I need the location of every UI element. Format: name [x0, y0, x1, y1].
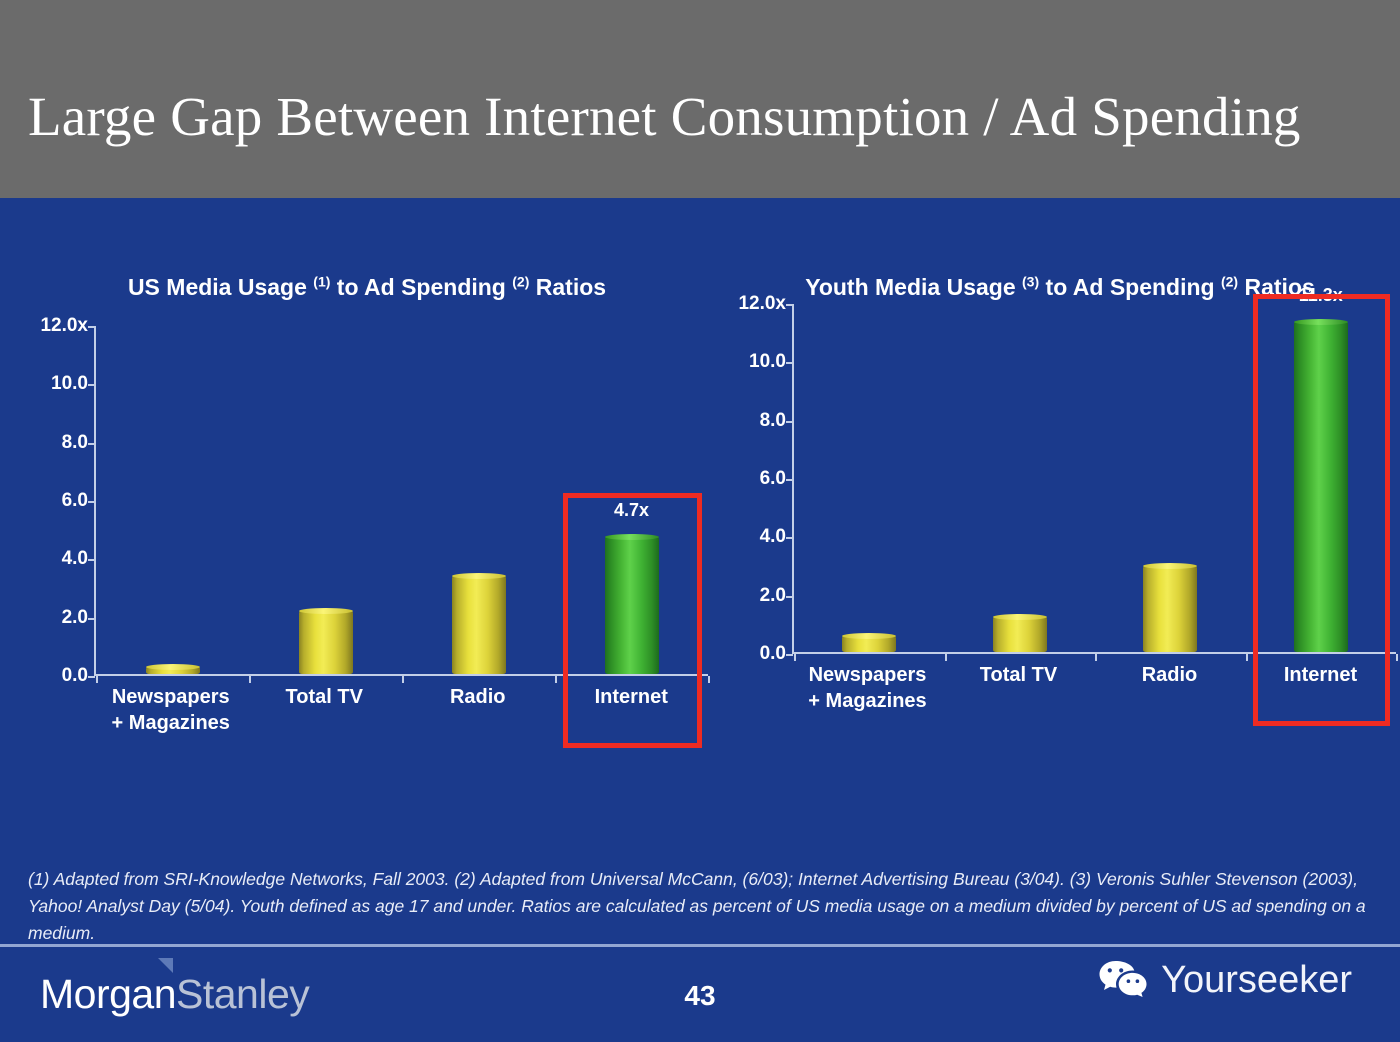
x-axis-label-newspapers-magazines: Newspapers+ Magazines	[792, 662, 943, 714]
bars-container-youth-media-usage: 11.3x	[794, 302, 1396, 652]
bar-internet	[1294, 322, 1348, 652]
chart-title-us-media-usage: US Media Usage (1) to Ad Spending (2) Ra…	[22, 270, 712, 304]
chart-title-part-2: to Ad Spending	[330, 274, 512, 300]
y-axis-tick-mark	[786, 362, 793, 364]
y-axis-tick-mark	[786, 596, 793, 598]
x-axis-label-line-1: Newspapers	[112, 686, 230, 708]
bar-cap	[299, 608, 353, 614]
x-axis-label-line-1: Total TV	[286, 686, 363, 708]
bar-slot: 4.7x	[555, 324, 708, 674]
bar-cap	[1143, 563, 1197, 569]
x-axis-label-line-1: Radio	[450, 686, 506, 708]
y-axis-tick-mark	[88, 384, 95, 386]
x-axis-labels-youth-media-usage: Newspapers+ MagazinesTotal TVRadioIntern…	[792, 662, 1396, 714]
bar-slot	[1095, 302, 1246, 652]
x-axis-label-line-2: + Magazines	[94, 710, 248, 736]
watermark-yourseeker: Yourseeker	[1097, 958, 1352, 1002]
x-axis-tick-mark	[708, 676, 710, 683]
y-axis-tick-label: 4.0	[62, 548, 88, 570]
bar-cap	[146, 664, 200, 670]
x-axis-tick-mark	[794, 654, 796, 661]
bar-cap	[842, 633, 896, 639]
x-axis-label-newspapers-magazines: Newspapers+ Magazines	[94, 684, 248, 736]
x-axis-label-line-1: Total TV	[980, 664, 1057, 686]
bar-value-label: 11.3x	[1261, 285, 1381, 306]
chart-title-footnote-marker-1: (3)	[1022, 273, 1039, 289]
chart-title-part-1: Youth Media Usage	[805, 274, 1022, 300]
y-axis-tick-mark	[88, 676, 95, 678]
x-axis-label-total-tv: Total TV	[943, 662, 1094, 714]
y-axis-tick-mark	[88, 443, 95, 445]
bar-radio	[1143, 566, 1197, 652]
y-axis-tick-label: 6.0	[760, 468, 786, 490]
bar-cap	[605, 534, 659, 540]
x-axis-tick-mark	[1095, 654, 1097, 661]
x-axis-label-total-tv: Total TV	[248, 684, 402, 736]
x-axis-labels-us-media-usage: Newspapers+ MagazinesTotal TVRadioIntern…	[94, 684, 708, 736]
plot-wrapper-youth-media-usage: 0.02.04.06.08.010.012.0x 11.3x Newspaper…	[720, 304, 1400, 744]
footer-divider	[0, 944, 1400, 947]
y-axis-labels-us-media-usage: 0.02.04.06.08.010.012.0x	[22, 326, 88, 676]
watermark-label: Yourseeker	[1161, 960, 1352, 1000]
x-axis-label-radio: Radio	[1094, 662, 1245, 714]
y-axis-tick-mark	[88, 326, 95, 328]
y-axis-labels-youth-media-usage: 0.02.04.06.08.010.012.0x	[720, 304, 786, 654]
bar-cap	[993, 614, 1047, 620]
x-axis-tick-mark	[1396, 654, 1398, 661]
bar-slot	[794, 302, 945, 652]
y-axis-tick-mark	[786, 654, 793, 656]
chart-title-part-1: US Media Usage	[128, 274, 313, 300]
bar-slot: 11.3x	[1246, 302, 1397, 652]
x-axis-label-line-1: Internet	[1284, 664, 1357, 686]
chart-panel-us-media-usage: US Media Usage (1) to Ad Spending (2) Ra…	[22, 270, 712, 766]
x-axis-label-internet: Internet	[1245, 662, 1396, 714]
chart-title-part-3: Ratios	[529, 274, 606, 300]
x-axis-tick-mark	[402, 676, 404, 683]
x-axis-label-radio: Radio	[401, 684, 555, 736]
x-axis-label-line-1: Internet	[595, 686, 668, 708]
y-axis-tick-mark	[88, 618, 95, 620]
slide-title: Large Gap Between Internet Consumption /…	[28, 86, 1388, 148]
y-axis-tick-mark	[786, 537, 793, 539]
y-axis-tick-mark	[88, 501, 95, 503]
footnote-text: (1) Adapted from SRI-Knowledge Networks,…	[28, 866, 1376, 947]
bar-slot	[945, 302, 1096, 652]
y-axis-tick-label: 2.0	[760, 585, 786, 607]
bar-newspapers-magazines	[842, 636, 896, 652]
x-axis-tick-mark	[249, 676, 251, 683]
chart-title-footnote-marker-2: (2)	[512, 273, 529, 289]
x-axis-tick-mark	[1246, 654, 1248, 661]
x-axis-tick-mark	[945, 654, 947, 661]
bar-total-tv	[993, 617, 1047, 652]
chart-title-footnote-marker-2: (2)	[1221, 273, 1238, 289]
x-axis-label-internet: Internet	[555, 684, 709, 736]
chart-title-footnote-marker-1: (1)	[313, 273, 330, 289]
y-axis-tick-label: 4.0	[760, 526, 786, 548]
plot-wrapper-us-media-usage: 0.02.04.06.08.010.012.0x 4.7x Newspapers…	[22, 326, 712, 766]
y-axis-tick-mark	[88, 559, 95, 561]
x-axis-tick-mark	[96, 676, 98, 683]
y-axis-tick-label: 6.0	[62, 490, 88, 512]
y-axis-tick-label: 8.0	[62, 432, 88, 454]
y-axis-tick-label: 10.0	[749, 351, 786, 373]
plot-area-youth-media-usage: 11.3x	[792, 304, 1396, 654]
bar-cap	[1294, 319, 1348, 325]
bar-slot	[249, 324, 402, 674]
y-axis-tick-label: 0.0	[760, 643, 786, 665]
x-axis-tick-mark	[555, 676, 557, 683]
y-axis-tick-mark	[786, 421, 793, 423]
plot-area-us-media-usage: 4.7x	[94, 326, 708, 676]
chart-title-part-2: to Ad Spending	[1039, 274, 1221, 300]
bar-newspapers-magazines	[146, 667, 200, 674]
y-axis-tick-label: 12.0x	[40, 315, 88, 337]
bar-total-tv	[299, 611, 353, 674]
x-axis-label-line-1: Radio	[1142, 664, 1198, 686]
bars-container-us-media-usage: 4.7x	[96, 324, 708, 674]
bar-slot	[96, 324, 249, 674]
y-axis-tick-label: 8.0	[760, 410, 786, 432]
x-axis-label-line-1: Newspapers	[809, 664, 927, 686]
chart-panel-youth-media-usage: Youth Media Usage (3) to Ad Spending (2)…	[720, 270, 1400, 744]
y-axis-tick-label: 0.0	[62, 665, 88, 687]
y-axis-tick-mark	[786, 304, 793, 306]
wechat-icon	[1097, 958, 1149, 1002]
bar-value-label: 4.7x	[572, 500, 692, 521]
bar-internet	[605, 537, 659, 674]
bar-slot	[402, 324, 555, 674]
y-axis-tick-label: 2.0	[62, 607, 88, 629]
bar-cap	[452, 573, 506, 579]
y-axis-tick-label: 10.0	[51, 373, 88, 395]
bar-radio	[452, 576, 506, 674]
x-axis-label-line-2: + Magazines	[792, 688, 943, 714]
presentation-slide: Large Gap Between Internet Consumption /…	[0, 0, 1400, 1042]
y-axis-tick-label: 12.0x	[738, 293, 786, 315]
y-axis-tick-mark	[786, 479, 793, 481]
